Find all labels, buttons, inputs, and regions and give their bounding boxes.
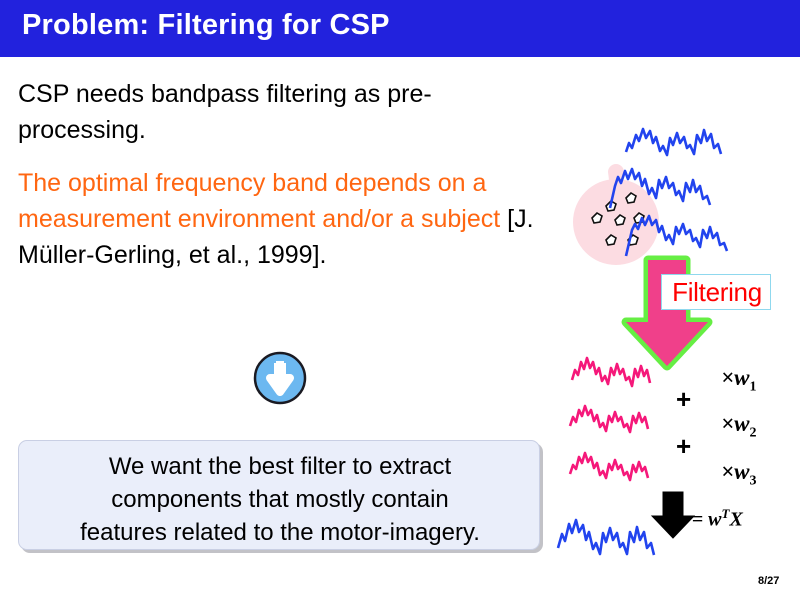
- page-title: Problem: Filtering for CSP: [22, 9, 390, 42]
- plus-sign-2: +: [676, 431, 691, 462]
- summary-line-1: We want the best filter to extract: [19, 450, 541, 483]
- down-arrow-badge-icon: [252, 350, 308, 406]
- body-paragraph-problem: The optimal frequency band depends on a …: [18, 165, 563, 273]
- slide-canvas: Problem: Filtering for CSP CSP needs ban…: [0, 0, 800, 600]
- body-paragraph-intro-text: CSP needs bandpass filtering as pre-proc…: [18, 80, 432, 144]
- plus-sign-1: +: [676, 384, 691, 415]
- output-formula-lhs: s = w: [679, 509, 722, 531]
- output-formula-rhs: X: [729, 509, 742, 531]
- title-bar-underline: [0, 52, 800, 57]
- output-formula: s = wTX: [679, 506, 743, 532]
- component-signals: [570, 358, 650, 480]
- filtering-label-box: Filtering: [661, 274, 771, 310]
- weight-label-3: ×w3: [721, 459, 756, 490]
- weight-label-1-text: ×w: [721, 365, 749, 390]
- body-paragraph-intro: CSP needs bandpass filtering as pre-proc…: [18, 76, 488, 148]
- weight-label-2-text: ×w: [721, 411, 749, 436]
- output-signal: [558, 520, 654, 555]
- weight-label-3-text: ×w: [721, 459, 749, 484]
- weight-label-2-sub: 2: [749, 426, 756, 441]
- weight-label-2: ×w2: [721, 411, 756, 442]
- summary-callout-text: We want the best filter to extract compo…: [19, 450, 541, 549]
- page-number: 8/27: [758, 575, 779, 587]
- summary-line-2: components that mostly contain: [19, 483, 541, 516]
- summary-callout-box: We want the best filter to extract compo…: [18, 440, 540, 550]
- accent-statement: The optimal frequency band depends on a …: [18, 169, 500, 233]
- summary-line-3: features related to the motor-imagery.: [19, 516, 541, 549]
- csp-pipeline-diagram: [548, 60, 800, 570]
- weight-label-1: ×w1: [721, 365, 756, 396]
- weight-label-1-sub: 1: [749, 380, 756, 395]
- weight-label-3-sub: 3: [749, 474, 756, 489]
- filtering-label-text: Filtering: [662, 277, 772, 308]
